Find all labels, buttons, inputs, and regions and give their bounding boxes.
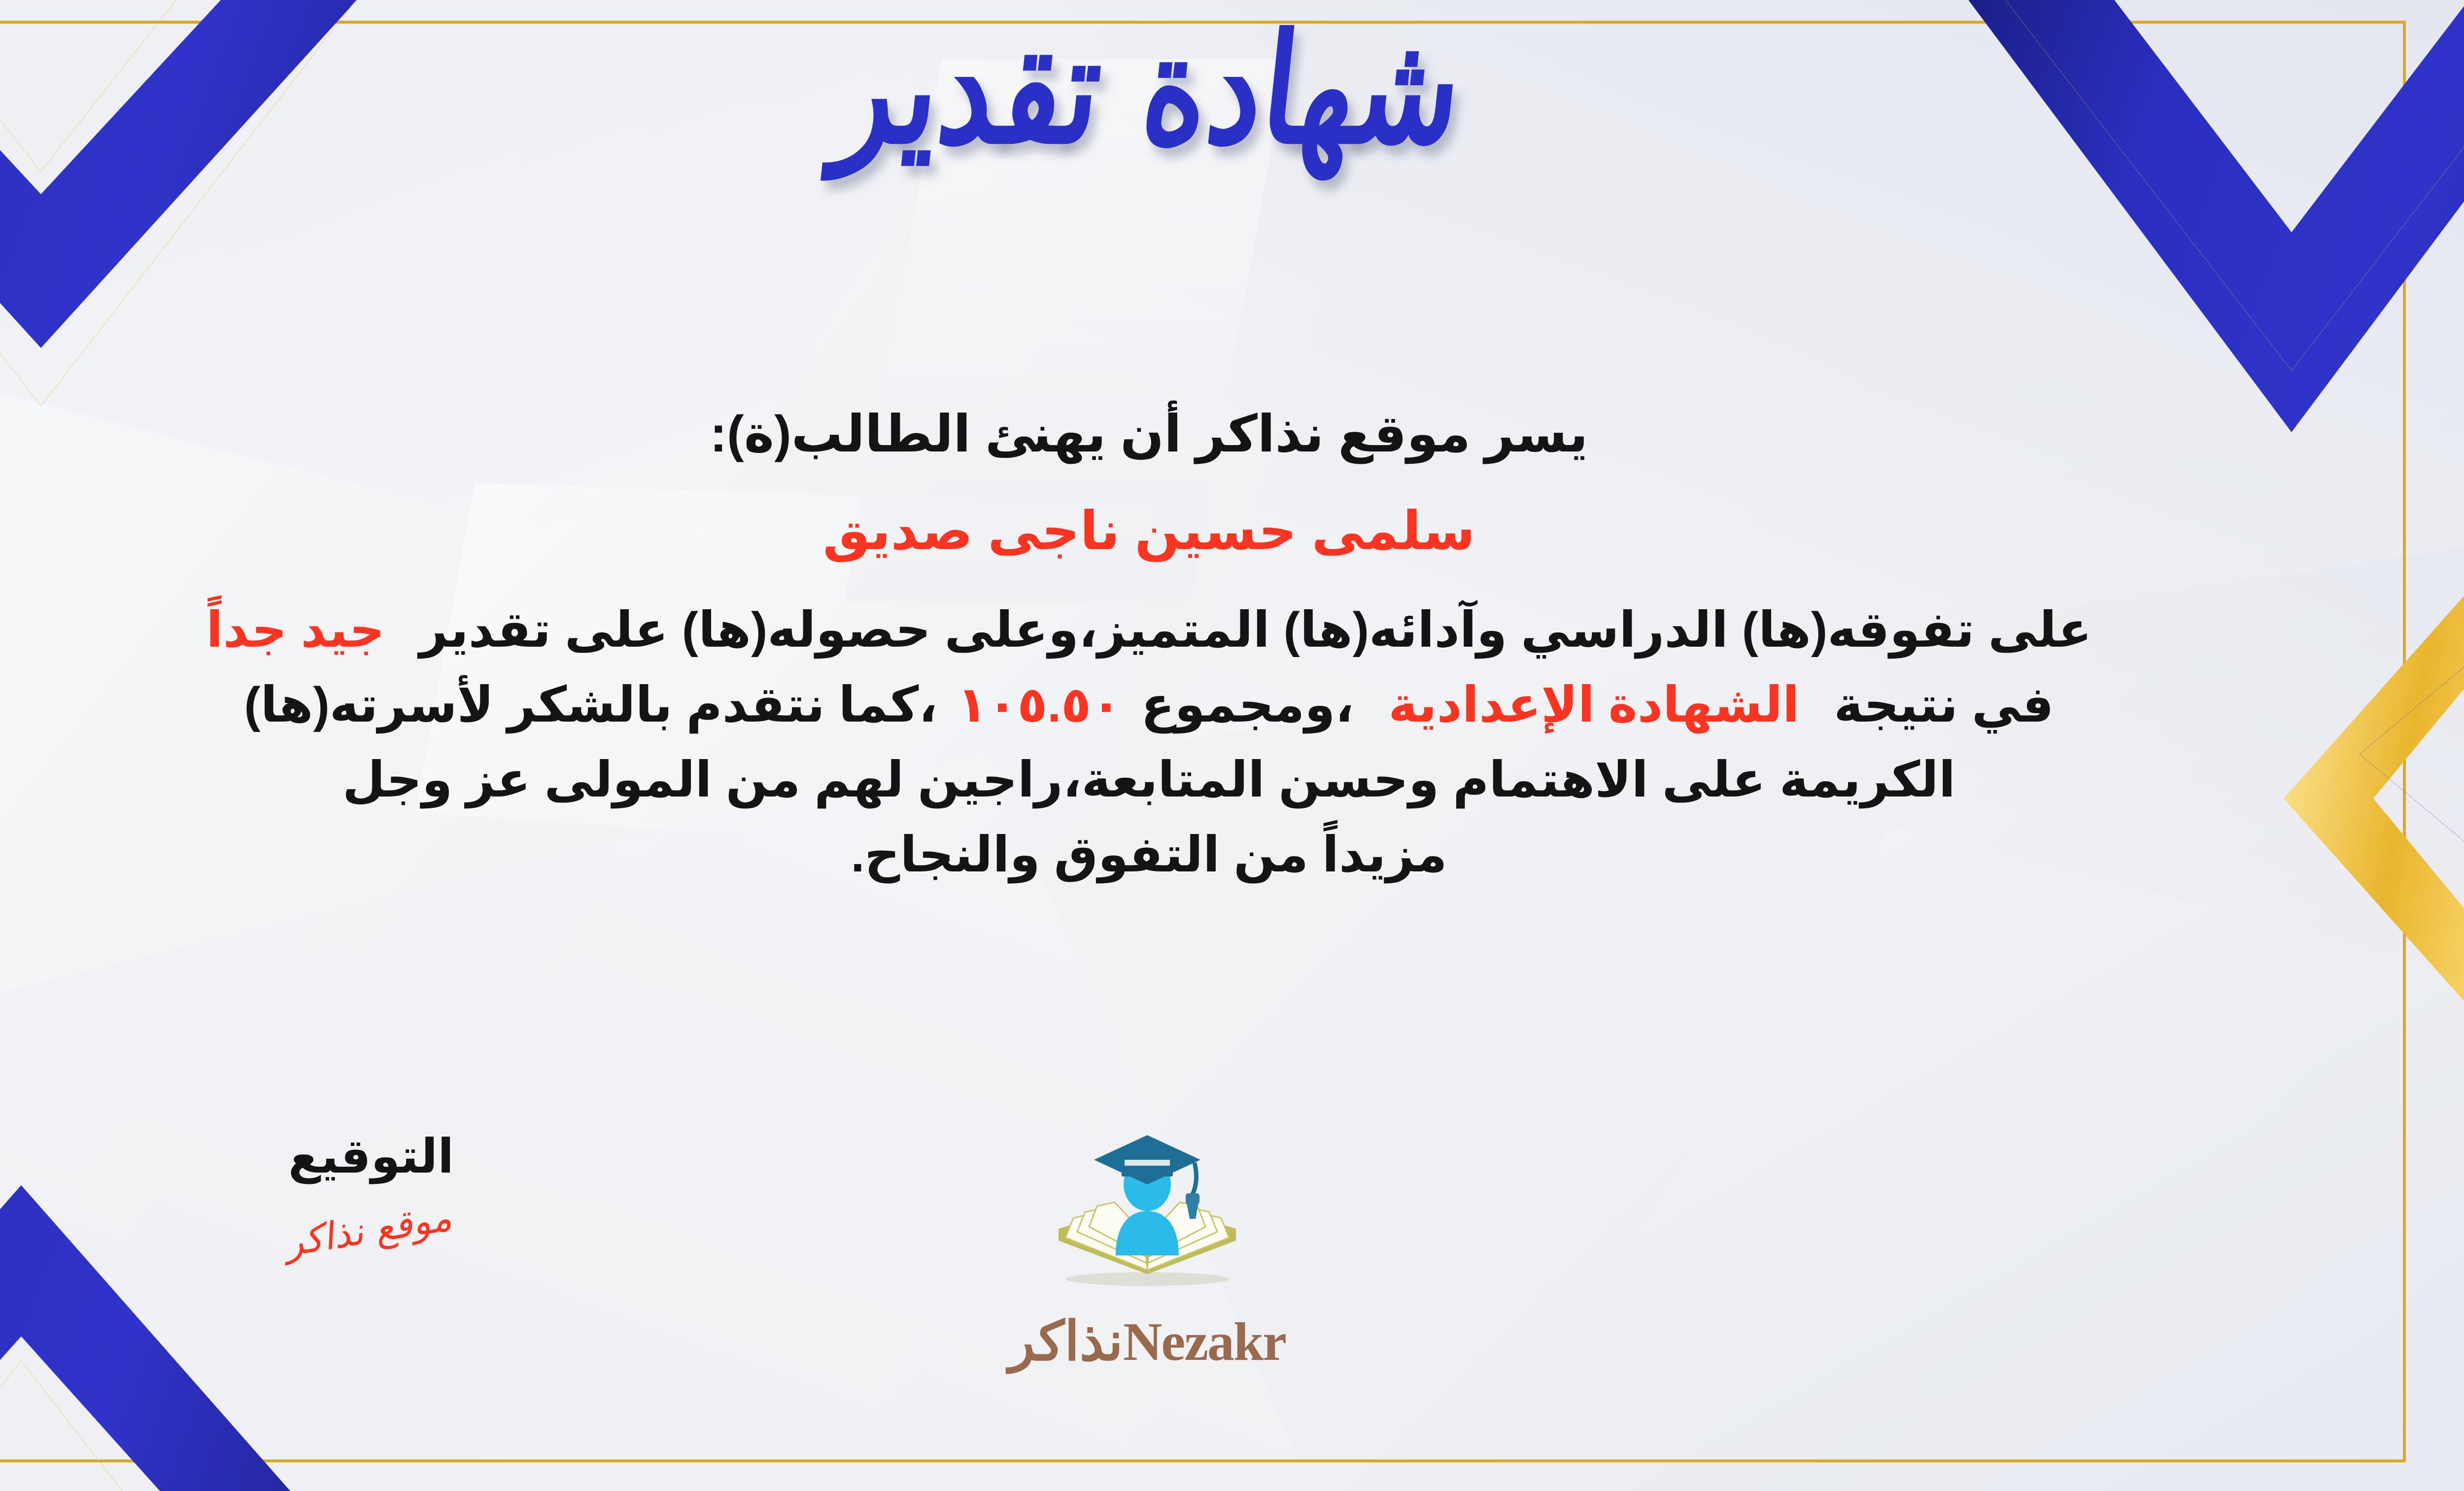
exam-name: الشهادة الإعدادية: [1388, 677, 1799, 732]
thanks-text: ،كما نتقدم بالشكر لأسرته(ها): [244, 677, 937, 732]
family-thanks-line: الكريمة على الاهتمام وحسن المتابعة،راجين…: [0, 746, 2380, 814]
certificate-page: شهادة تقدير يسر موقع نذاكر أن يهنئ الطال…: [0, 0, 2464, 1491]
signature-block: التوقيع موقع نذاكر: [208, 1129, 534, 1251]
achievement-text: على تفوقه(ها) الدراسي وآدائه(ها) المتميز…: [419, 602, 2092, 658]
exam-prefix: في نتيجة: [1834, 677, 2053, 732]
certificate-title-area: شهادة تقدير: [0, 27, 2464, 160]
student-name: سلمى حسين ناجى صديق: [0, 494, 2380, 567]
brand-name-arabic: نذاكر: [1009, 1312, 1123, 1372]
total-label: ،ومجموع: [1141, 677, 1354, 732]
signature-label: التوقيع: [208, 1129, 534, 1184]
grade-value: جيد جداً: [206, 602, 385, 658]
achievement-line: على تفوقه(ها) الدراسي وآدائه(ها) المتميز…: [0, 596, 2380, 664]
closing-wish-line: مزيداً من التفوق والنجاح.: [0, 821, 2380, 889]
total-score: ١٠٥.٥٠: [957, 677, 1121, 732]
brand-name: Nezakrنذاكر: [960, 1310, 1335, 1373]
congratulation-line: يسر موقع نذاكر أن يهنئ الطالب(ة):: [0, 399, 2380, 470]
brand-name-latin: Nezakr: [1123, 1312, 1286, 1372]
brand-logo: Nezakrنذاكر: [960, 1126, 1335, 1373]
graduate-book-logo-icon: [1044, 1126, 1251, 1318]
exam-result-line: في نتيجةالشهادة الإعدادية،ومجموع١٠٥.٥٠،ك…: [0, 671, 2380, 739]
page-title: شهادة تقدير: [829, 13, 1469, 164]
certificate-body: يسر موقع نذاكر أن يهنئ الطالب(ة): سلمى ح…: [0, 399, 2380, 896]
